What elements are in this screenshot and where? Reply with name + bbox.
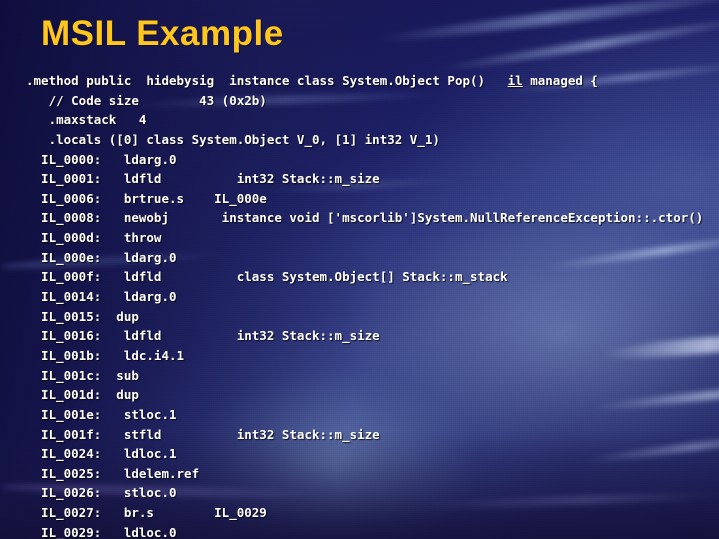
- code-line: IL_0027: br.s IL_0029: [26, 503, 719, 523]
- code-line: IL_0014: ldarg.0: [26, 287, 719, 307]
- code-line: IL_0008: newobj instance void ['mscorlib…: [26, 208, 719, 228]
- code-line: IL_0024: ldloc.1: [26, 444, 719, 464]
- code-line: IL_0026: stloc.0: [26, 483, 719, 503]
- code-line: IL_001b: ldc.i4.1: [26, 346, 719, 366]
- code-line: IL_000e: ldarg.0: [26, 248, 719, 268]
- code-line: IL_000d: throw: [26, 228, 719, 248]
- code-line: IL_0006: brtrue.s IL_000e: [26, 189, 719, 209]
- code-line: IL_001c: sub: [26, 366, 719, 386]
- code-line: IL_001d: dup: [26, 385, 719, 405]
- code-line: IL_0029: ldloc.0: [26, 523, 719, 539]
- code-line: IL_0001: ldfld int32 Stack::m_size: [26, 169, 719, 189]
- code-line: .locals ([0] class System.Object V_0, [1…: [26, 130, 719, 150]
- code-line: IL_001e: stloc.1: [26, 405, 719, 425]
- code-line: IL_000f: ldfld class System.Object[] Sta…: [26, 267, 719, 287]
- code-line: .method public hidebysig instance class …: [26, 71, 719, 91]
- light-streak: [431, 14, 719, 75]
- presentation-slide: MSIL Example .method public hidebysig in…: [0, 0, 719, 539]
- underlined-token: il: [508, 73, 523, 88]
- slide-title: MSIL Example: [41, 13, 284, 55]
- code-line: IL_0000: ldarg.0: [26, 150, 719, 170]
- code-line: // Code size 43 (0x2b): [26, 91, 719, 111]
- code-line: IL_0016: ldfld int32 Stack::m_size: [26, 326, 719, 346]
- light-streak: [371, 0, 719, 46]
- msil-code-block: .method public hidebysig instance class …: [26, 71, 719, 539]
- code-line: IL_001f: stfld int32 Stack::m_size: [26, 425, 719, 445]
- code-line: IL_0025: ldelem.ref: [26, 464, 719, 484]
- code-line: IL_0015: dup: [26, 307, 719, 327]
- code-line: .maxstack 4: [26, 110, 719, 130]
